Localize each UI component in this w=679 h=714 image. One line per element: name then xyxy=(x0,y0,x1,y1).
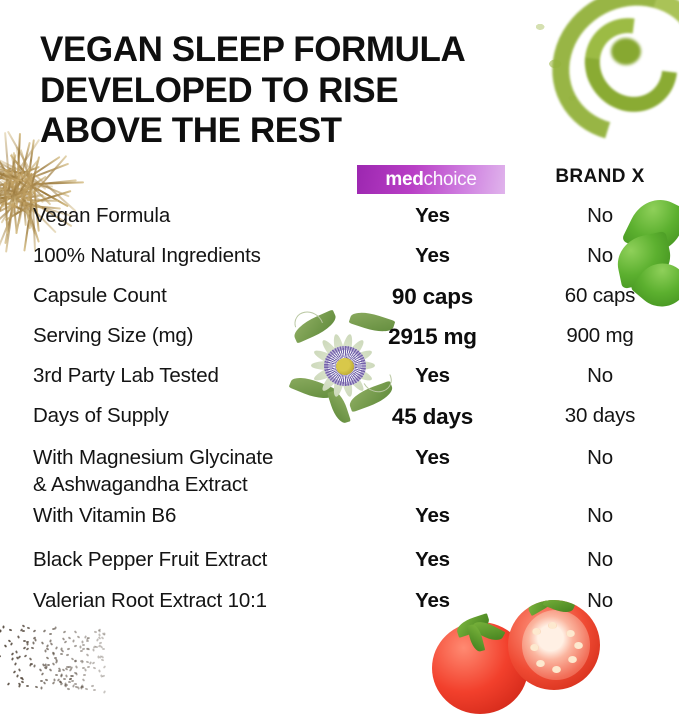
headline-line-3: Above the Rest xyxy=(40,111,560,152)
page-title: Vegan Sleep Formula Developed to Rise Ab… xyxy=(40,30,560,152)
feature-label: Serving Size (mg) xyxy=(33,322,393,349)
feature-label: 3rd Party Lab Tested xyxy=(33,362,393,389)
brandx-value: No xyxy=(530,546,670,573)
feature-label: 100% Natural Ingredients xyxy=(33,242,393,269)
table-row: Serving Size (mg)2915 mg900 mg xyxy=(0,322,679,362)
table-row: Days of Supply45 days30 days xyxy=(0,402,679,444)
feature-label-line-1: 3rd Party Lab Tested xyxy=(33,364,219,387)
brandx-value: 900 mg xyxy=(530,322,670,349)
feature-label: With Vitamin B6 xyxy=(33,502,393,529)
medchoice-value: Yes xyxy=(360,362,505,389)
medchoice-value: Yes xyxy=(360,444,505,471)
medchoice-value: Yes xyxy=(360,587,505,614)
table-row: 100% Natural IngredientsYesNo xyxy=(0,242,679,282)
feature-label-line-1: Vegan Formula xyxy=(33,204,170,227)
feature-label: Valerian Root Extract 10:1 xyxy=(33,587,393,614)
table-row: Black Pepper Fruit ExtractYesNo xyxy=(0,546,679,587)
table-row: Capsule Count90 caps60 caps xyxy=(0,282,679,322)
feature-label-line-1: With Vitamin B6 xyxy=(33,504,176,527)
table-row: With Vitamin B6YesNo xyxy=(0,502,679,546)
medchoice-value: Yes xyxy=(360,502,505,529)
brand-name-prefix: med xyxy=(385,169,423,190)
table-row: With Magnesium Glycinate& Ashwagandha Ex… xyxy=(0,444,679,502)
feature-label-line-1: Serving Size (mg) xyxy=(33,324,193,347)
brandx-value: No xyxy=(530,502,670,529)
brandx-value: No xyxy=(530,242,670,269)
brandx-value: No xyxy=(530,202,670,229)
brandx-value: No xyxy=(530,587,670,614)
medchoice-value: Yes xyxy=(360,202,505,229)
headline-line-1: Vegan Sleep Formula xyxy=(40,30,560,71)
tomato-image xyxy=(432,622,528,714)
feature-label-line-1: With Magnesium Glycinate xyxy=(33,446,273,469)
medchoice-brand-logo: medchoice xyxy=(357,165,505,194)
medchoice-value: 45 days xyxy=(360,402,505,432)
feature-label: Black Pepper Fruit Extract xyxy=(33,546,393,573)
feature-label-line-1: Days of Supply xyxy=(33,404,169,427)
table-row: Vegan FormulaYesNo xyxy=(0,202,679,242)
medchoice-value: 2915 mg xyxy=(360,322,505,352)
feature-label-line-1: Valerian Root Extract 10:1 xyxy=(33,589,267,612)
feature-label-line-2: & Ashwagandha Extract xyxy=(33,471,393,498)
brandx-value: 60 caps xyxy=(530,282,670,309)
brandx-value: No xyxy=(530,362,670,389)
table-row: Valerian Root Extract 10:1YesNo xyxy=(0,587,679,628)
feature-label: Days of Supply xyxy=(33,402,393,429)
feature-label-line-1: Capsule Count xyxy=(33,284,167,307)
comparison-table: Vegan FormulaYesNo100% Natural Ingredien… xyxy=(0,202,679,628)
medchoice-value: Yes xyxy=(360,242,505,269)
feature-label-line-1: 100% Natural Ingredients xyxy=(33,244,261,267)
feature-label: With Magnesium Glycinate& Ashwagandha Ex… xyxy=(33,444,393,499)
brandx-value: No xyxy=(530,444,670,471)
medchoice-value: 90 caps xyxy=(360,282,505,312)
headline-line-2: Developed to Rise xyxy=(40,71,560,112)
feature-label: Vegan Formula xyxy=(33,202,393,229)
brandx-value: 30 days xyxy=(530,402,670,429)
feature-label: Capsule Count xyxy=(33,282,393,309)
brand-name-suffix: choice xyxy=(424,169,477,190)
table-row: 3rd Party Lab TestedYesNo xyxy=(0,362,679,402)
column-header-brandx: BRAND X xyxy=(530,166,670,188)
feature-label-line-1: Black Pepper Fruit Extract xyxy=(33,548,267,571)
medchoice-value: Yes xyxy=(360,546,505,573)
